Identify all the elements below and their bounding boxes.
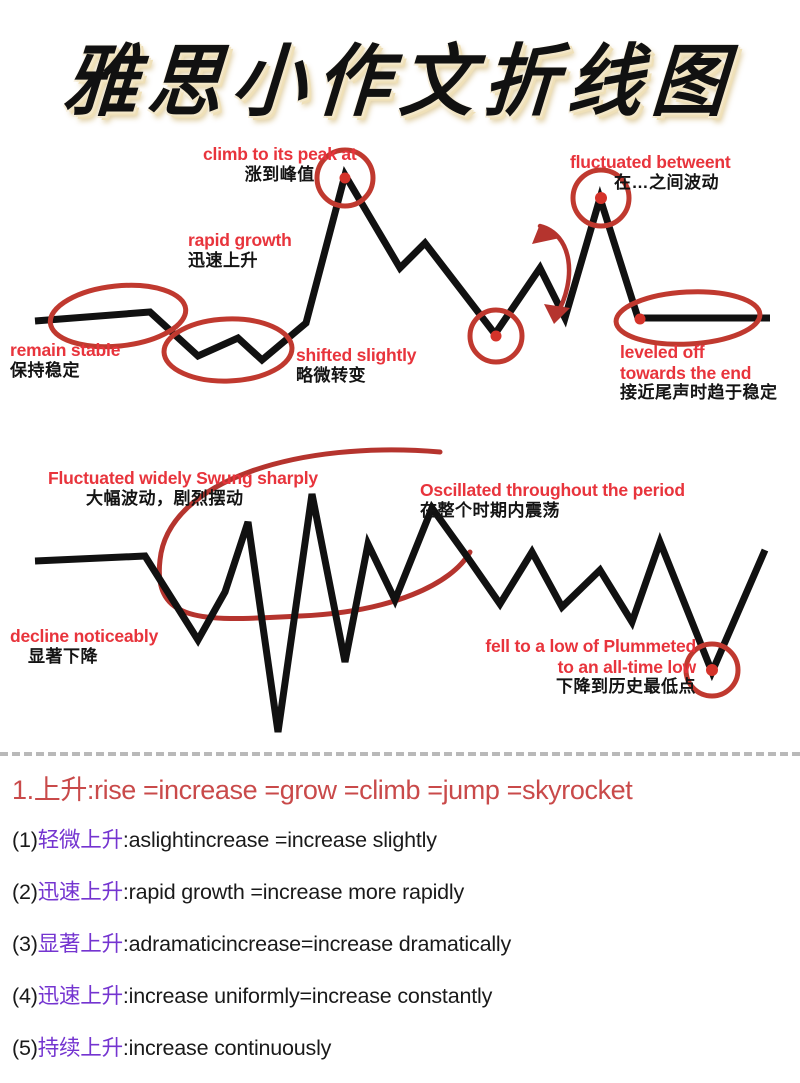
vocabulary-item-2-num: (2) <box>12 880 38 904</box>
label-oscillated-en: Oscillated throughout the period <box>420 480 685 501</box>
label-fluctuated-widely: Fluctuated widely Swung sharply 大幅波动，剧烈摆… <box>48 468 318 509</box>
label-decline-noticeably-cn: 显著下降 <box>28 647 158 667</box>
label-fell-to-low-en-line1: fell to a low of Plummeted <box>348 636 696 657</box>
label-rapid-growth: rapid growth 迅速上升 <box>188 230 292 271</box>
vocabulary-heading: 1.上升:rise =increase =grow =climb =jump =… <box>0 768 800 807</box>
vocabulary-item-4: (4)迅速上升:increase uniformly=increase cons… <box>0 979 800 1010</box>
vocabulary-item-5: (5)持续上升:increase continuously <box>0 1031 800 1062</box>
all-time-low-dot <box>706 664 718 676</box>
label-fell-to-low-en-line2: to an all-time low <box>348 657 696 678</box>
vocabulary-item-1-en: :aslightincrease =increase slightly <box>123 828 437 852</box>
label-fell-to-low-cn: 下降到历史最低点 <box>348 677 696 697</box>
label-oscillated-cn: 在整个时期内震荡 <box>420 501 685 521</box>
vocabulary-item-5-en: :increase continuously <box>123 1036 331 1060</box>
label-fluctuated-between: fluctuated betweent 在…之间波动 <box>570 152 731 193</box>
label-shifted-slightly: shifted slightly 略微转变 <box>296 345 416 386</box>
vocabulary-item-5-cn: 持续上升 <box>38 1036 123 1060</box>
label-rapid-growth-cn: 迅速上升 <box>188 251 292 271</box>
page-title: 雅思小作文折线图 <box>61 43 738 121</box>
vocabulary-item-5-num: (5) <box>12 1036 38 1060</box>
label-oscillated: Oscillated throughout the period 在整个时期内震… <box>420 480 685 521</box>
label-decline-noticeably-en: decline noticeably <box>10 626 158 647</box>
chart-one-series-line <box>35 175 770 360</box>
label-leveled-off-en-line2: towards the end <box>620 363 778 384</box>
vocabulary-item-3-cn: 显著上升 <box>38 932 123 956</box>
label-fluctuated-between-cn: 在…之间波动 <box>614 173 731 193</box>
vocabulary-item-2-cn: 迅速上升 <box>38 880 123 904</box>
label-fluctuated-widely-cn: 大幅波动，剧烈摆动 <box>86 489 318 509</box>
label-fluctuated-between-en: fluctuated betweent <box>570 152 731 173</box>
label-decline-noticeably: decline noticeably 显著下降 <box>10 626 158 667</box>
vocabulary-item-4-cn: 迅速上升 <box>38 984 123 1008</box>
vocabulary-item-1: (1)轻微上升:aslightincrease =increase slight… <box>0 823 800 854</box>
vocabulary-item-3: (3)显著上升:adramaticincrease=increase drama… <box>0 927 800 958</box>
page-title-block: 雅思小作文折线图 <box>0 26 800 138</box>
label-leveled-off: leveled off towards the end 接近尾声时趋于稳定 <box>620 342 778 403</box>
label-climb-to-peak: climb to its peak at 涨到峰值 <box>203 144 357 185</box>
section-divider <box>0 752 800 756</box>
vocabulary-item-2: (2)迅速上升:rapid growth =increase more rapi… <box>0 875 800 906</box>
label-leveled-off-en-line1: leveled off <box>620 342 778 363</box>
leveled-off-dot <box>635 314 646 325</box>
vocabulary-item-1-cn: 轻微上升 <box>38 828 123 852</box>
label-remain-stable-en: remain stable <box>10 340 120 361</box>
label-shifted-slightly-en: shifted slightly <box>296 345 416 366</box>
label-rapid-growth-en: rapid growth <box>188 230 292 251</box>
vocabulary-section: 1.上升:rise =increase =grow =climb =jump =… <box>0 768 800 1083</box>
label-leveled-off-cn: 接近尾声时趋于稳定 <box>620 383 778 403</box>
label-fell-to-low: fell to a low of Plummeted to an all-tim… <box>348 636 696 697</box>
vocabulary-item-3-num: (3) <box>12 932 38 956</box>
label-remain-stable: remain stable 保持稳定 <box>10 340 120 381</box>
fluctuation-peak-dot <box>595 192 607 204</box>
label-shifted-slightly-cn: 略微转变 <box>296 366 416 386</box>
vocabulary-item-1-num: (1) <box>12 828 38 852</box>
label-climb-to-peak-cn: 涨到峰值 <box>203 165 357 185</box>
label-fluctuated-widely-en: Fluctuated widely Swung sharply <box>48 468 318 489</box>
trough-dot <box>491 331 502 342</box>
label-climb-to-peak-en: climb to its peak at <box>203 144 357 165</box>
vocabulary-item-3-en: :adramaticincrease=increase dramatically <box>123 932 511 956</box>
vocabulary-item-4-en: :increase uniformly=increase constantly <box>123 984 492 1008</box>
vocabulary-item-4-num: (4) <box>12 984 38 1008</box>
vocabulary-item-2-en: :rapid growth =increase more rapidly <box>123 880 464 904</box>
label-remain-stable-cn: 保持稳定 <box>10 361 120 381</box>
